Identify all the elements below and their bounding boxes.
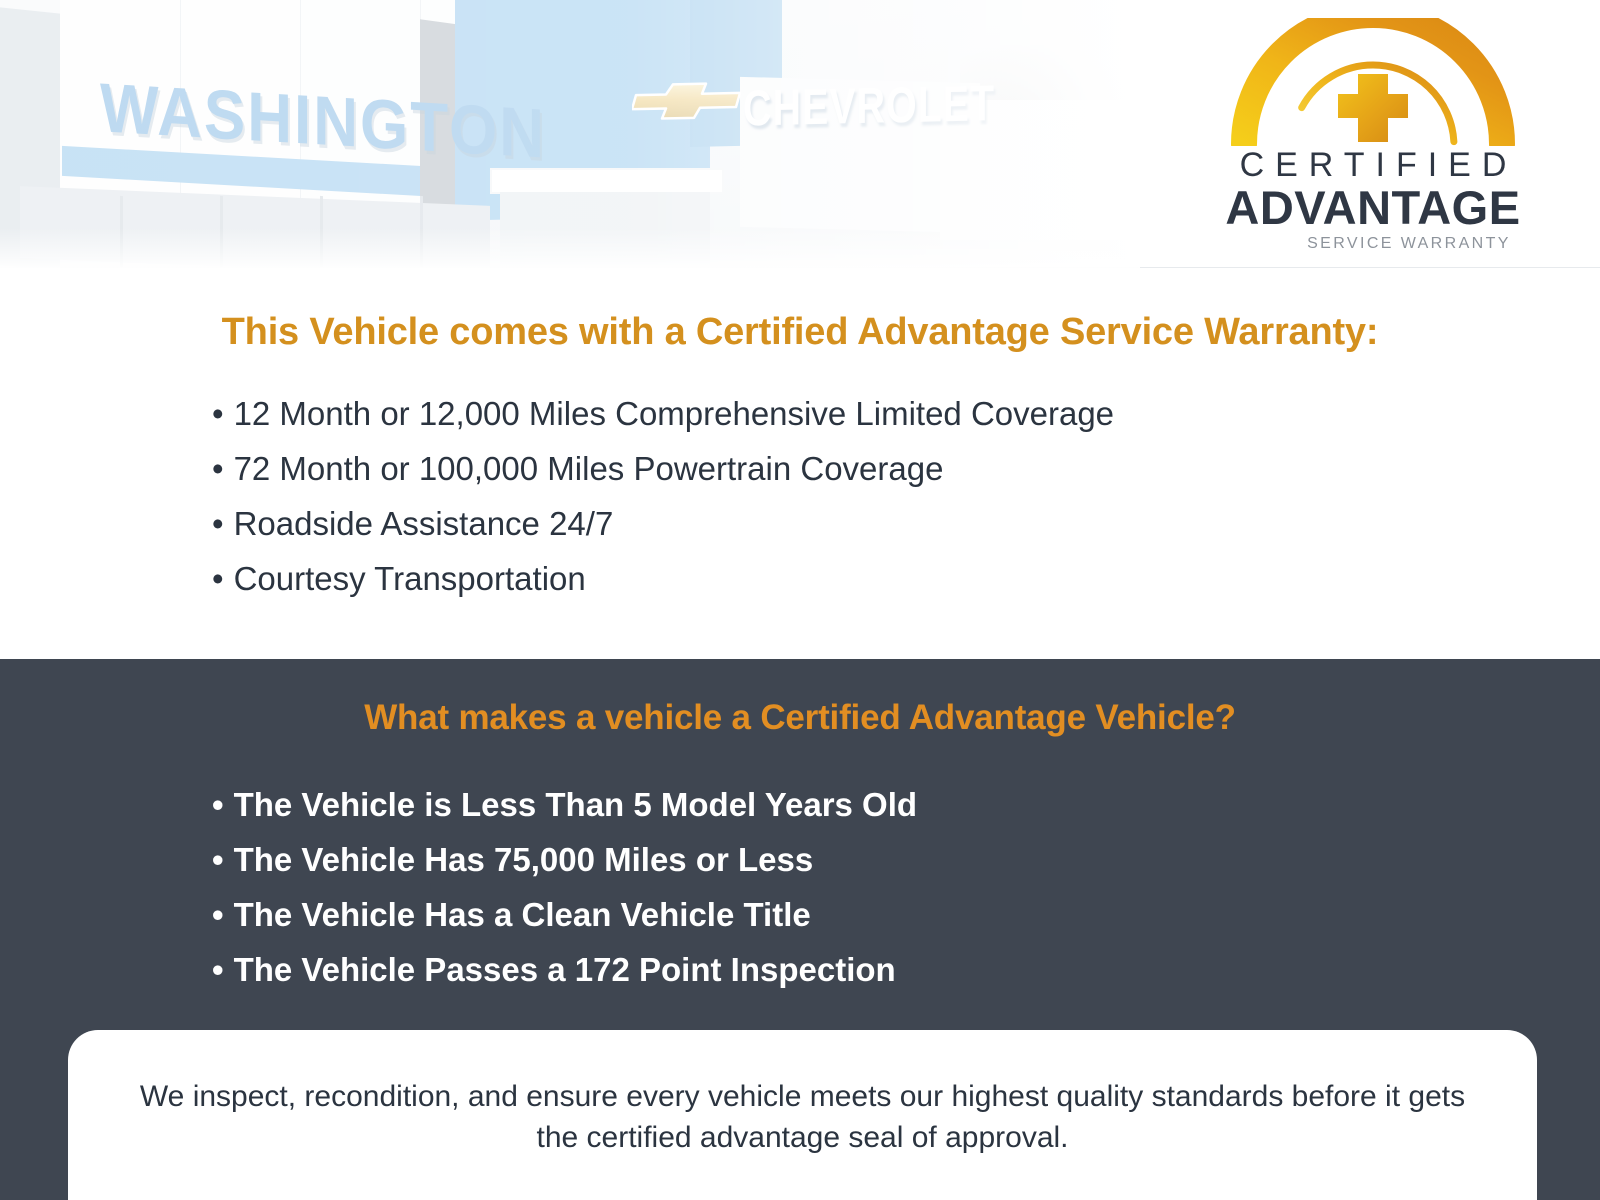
list-item: •The Vehicle Has 75,000 Miles or Less (212, 832, 1512, 887)
dealership-storefront-photo: WASHINGTON CHEVROLET (0, 0, 1140, 268)
photo-bottom-fade (0, 228, 1140, 268)
list-item-label: Roadside Assistance 24/7 (234, 505, 614, 542)
chevrolet-bowtie-icon (632, 77, 744, 123)
warranty-headline: This Vehicle comes with a Certified Adva… (0, 310, 1600, 356)
list-item: •72 Month or 100,000 Miles Powertrain Co… (212, 441, 1392, 496)
qualifications-list: •The Vehicle is Less Than 5 Model Years … (212, 777, 1512, 997)
bullet-icon: • (212, 777, 224, 832)
list-item-label: The Vehicle Has a Clean Vehicle Title (234, 896, 811, 933)
list-item-label: The Vehicle Passes a 172 Point Inspectio… (234, 951, 896, 988)
list-item: •12 Month or 12,000 Miles Comprehensive … (212, 386, 1392, 441)
list-item: •Courtesy Transportation (212, 551, 1392, 606)
list-item: •The Vehicle Passes a 172 Point Inspecti… (212, 942, 1512, 997)
certified-advantage-logo: CERTIFIED ADVANTAGE SERVICE WARRANTY (1208, 18, 1538, 246)
bullet-icon: • (212, 942, 224, 997)
logo-arc-wrap (1208, 18, 1538, 146)
bullet-icon: • (212, 832, 224, 887)
qualifications-heading: What makes a vehicle a Certified Advanta… (0, 697, 1600, 739)
certified-advantage-arc-icon (1208, 18, 1538, 146)
list-item: •The Vehicle is Less Than 5 Model Years … (212, 777, 1512, 832)
warranty-section: This Vehicle comes with a Certified Adva… (0, 268, 1600, 659)
list-item-label: The Vehicle is Less Than 5 Model Years O… (234, 786, 918, 823)
header-banner: WASHINGTON CHEVROLET (0, 0, 1600, 268)
list-item-label: 72 Month or 100,000 Miles Powertrain Cov… (234, 450, 944, 487)
list-item: •The Vehicle Has a Clean Vehicle Title (212, 887, 1512, 942)
bullet-icon: • (212, 496, 224, 551)
plus-cross-icon (1338, 74, 1408, 142)
list-item-label: 12 Month or 12,000 Miles Comprehensive L… (234, 395, 1114, 432)
logo-line-certified: CERTIFIED (1208, 148, 1538, 182)
list-item: •Roadside Assistance 24/7 (212, 496, 1392, 551)
logo-line-advantage: ADVANTAGE (1208, 184, 1538, 232)
bullet-icon: • (212, 386, 224, 441)
list-item-label: The Vehicle Has 75,000 Miles or Less (234, 841, 814, 878)
bullet-icon: • (212, 551, 224, 606)
quality-promise-card: We inspect, recondition, and ensure ever… (68, 1030, 1537, 1200)
warranty-benefit-list: •12 Month or 12,000 Miles Comprehensive … (212, 386, 1392, 606)
bullet-icon: • (212, 887, 224, 942)
list-item-label: Courtesy Transportation (234, 560, 586, 597)
certified-advantage-flyer: WASHINGTON CHEVROLET (0, 0, 1600, 1200)
brand-sign-chevrolet: CHEVROLET (743, 75, 995, 138)
quality-promise-text: We inspect, recondition, and ensure ever… (138, 1076, 1467, 1159)
bullet-icon: • (212, 441, 224, 496)
logo-line-service-warranty: SERVICE WARRANTY (1208, 235, 1538, 253)
